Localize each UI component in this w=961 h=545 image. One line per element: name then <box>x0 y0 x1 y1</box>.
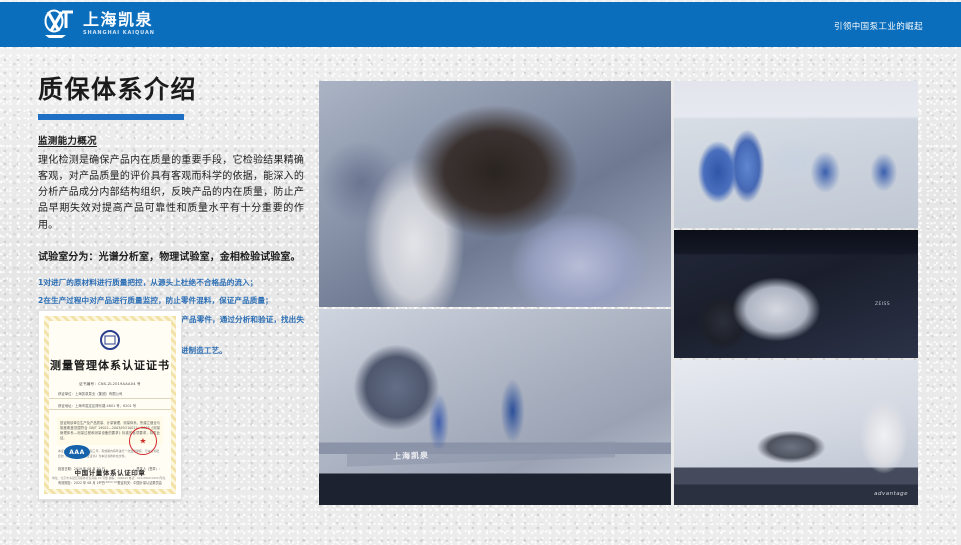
certificate-company-field: 获证单位：上海凯泉泵业（集团）有限公司 <box>49 391 171 399</box>
certificate-inner-frame: 测量管理体系认证证书 证书编号：CNS-ZL2019AAA04 号 获证单位：上… <box>44 316 176 494</box>
certificate-address-field: 获证地址：上海市嘉定区博乐路 4601 号、6201 号 <box>49 403 171 411</box>
certificate-number: 证书编号：CNS-ZL2019AAA04 号 <box>49 382 171 387</box>
page-title: 质保体系介绍 <box>38 76 304 105</box>
photo-watermark-band: 上海凯泉 <box>347 442 615 467</box>
list-item: 2在生产过程中对产品进行质量监控，防止零件混料，保证产品质量； <box>38 295 304 307</box>
header-slogan: 引领中国泵工业的崛起 <box>834 20 923 32</box>
photo-zeiss-microscope[interactable]: ZEISS <box>674 230 918 358</box>
section-subheading: 监测能力概况 <box>38 133 304 147</box>
zeiss-brand-label: ZEISS <box>875 302 890 307</box>
photo-microscope-operator[interactable] <box>319 81 671 307</box>
photo-collage: ZEISS 上海凯泉 advantage <box>319 81 918 505</box>
photo-coordinate-measuring-machine[interactable]: advantage <box>674 360 918 505</box>
brand-name-cn: 上海凯泉 <box>83 12 155 28</box>
aaa-badge-icon: AAA <box>64 445 90 459</box>
cmm-brand-label: advantage <box>874 491 908 497</box>
photo-universal-testing-machine[interactable]: 上海凯泉 <box>319 309 671 505</box>
brand-name-en: SHANGHAI KAIQUAN <box>83 31 155 36</box>
brand-logo[interactable]: 上海凯泉 SHANGHAI KAIQUAN <box>42 8 155 40</box>
body-paragraph: 理化检测是确保产品内在质量的重要手段，它检验结果精确客观，对产品质量的评价具有客… <box>38 153 304 234</box>
list-item: 1对进厂的原材料进行质量把控，从源头上杜绝不合格品的流入； <box>38 277 304 289</box>
photo-laboratory-room[interactable] <box>674 81 918 228</box>
red-official-seal-icon <box>129 427 157 455</box>
photo-watermark-text: 上海凯泉 <box>393 450 429 462</box>
title-underline-rule <box>38 114 184 120</box>
laboratory-types-line: 试验室分为：光谱分析室，物理试验室，金相检验试验室。 <box>38 248 304 263</box>
site-header-bar: 上海凯泉 SHANGHAI KAIQUAN 引领中国泵工业的崛起 <box>0 2 961 47</box>
certificate-image[interactable]: 测量管理体系认证证书 证书编号：CNS-ZL2019AAA04 号 获证单位：上… <box>38 310 182 500</box>
certificate-emblem-icon <box>100 330 120 350</box>
certificate-footer-address: 地址：北京市海淀区首都体育馆南路 20 号楼 邮编：100044 电话：010-… <box>49 476 171 484</box>
kaiquan-logo-icon <box>42 8 76 40</box>
certificate-title: 测量管理体系认证证书 <box>49 357 171 373</box>
